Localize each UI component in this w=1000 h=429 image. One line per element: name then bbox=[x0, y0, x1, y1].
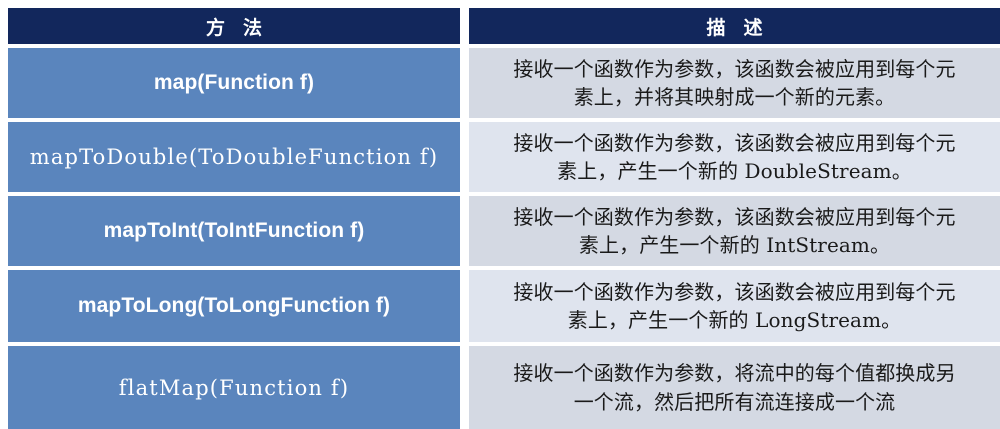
method-description-cell: 接收一个函数作为参数，该函数会被应用到每个元 素上，产生一个新的 LongStr… bbox=[469, 270, 1000, 342]
table-row: mapToDouble(ToDoubleFunction f) 接收一个函数作为… bbox=[8, 122, 1000, 192]
table-row: map(Function f) 接收一个函数作为参数，该函数会被应用到每个元 素… bbox=[8, 48, 1000, 118]
description-text: 接收一个函数作为参数，该函数会被应用到每个元 素上，产生一个新的 LongStr… bbox=[481, 278, 988, 335]
method-description-cell: 接收一个函数作为参数，该函数会被应用到每个元 素上，产生一个新的 DoubleS… bbox=[469, 122, 1000, 192]
method-name-cell: mapToDouble(ToDoubleFunction f) bbox=[8, 122, 460, 192]
method-description-cell: 接收一个函数作为参数，该函数会被应用到每个元 素上，并将其映射成一个新的元素。 bbox=[469, 48, 1000, 118]
column-header-description: 描 述 bbox=[469, 8, 1000, 44]
table-header-row: 方 法 描 述 bbox=[8, 8, 1000, 44]
method-name-cell: map(Function f) bbox=[8, 48, 460, 118]
method-description-cell: 接收一个函数作为参数，该函数会被应用到每个元 素上，产生一个新的 IntStre… bbox=[469, 196, 1000, 266]
table-row: mapToLong(ToLongFunction f) 接收一个函数作为参数，该… bbox=[8, 270, 1000, 342]
description-text: 接收一个函数作为参数，该函数会被应用到每个元 素上，产生一个新的 IntStre… bbox=[481, 203, 988, 260]
method-name-cell: flatMap(Function f) bbox=[8, 346, 460, 429]
description-text: 接收一个函数作为参数，该函数会被应用到每个元 素上，并将其映射成一个新的元素。 bbox=[481, 55, 988, 112]
method-name-cell: mapToLong(ToLongFunction f) bbox=[8, 270, 460, 342]
method-description-cell: 接收一个函数作为参数，将流中的每个值都换成另 一个流，然后把所有流连接成一个流 bbox=[469, 346, 1000, 429]
description-text: 接收一个函数作为参数，将流中的每个值都换成另 一个流，然后把所有流连接成一个流 bbox=[481, 359, 988, 416]
table-row: mapToInt(ToIntFunction f) 接收一个函数作为参数，该函数… bbox=[8, 196, 1000, 266]
column-header-method: 方 法 bbox=[8, 8, 460, 44]
description-text: 接收一个函数作为参数，该函数会被应用到每个元 素上，产生一个新的 DoubleS… bbox=[481, 129, 988, 186]
method-name-cell: mapToInt(ToIntFunction f) bbox=[8, 196, 460, 266]
stream-api-method-table: 方 法 描 述 map(Function f) 接收一个函数作为参数，该函数会被… bbox=[0, 0, 1000, 408]
table-row: flatMap(Function f) 接收一个函数作为参数，将流中的每个值都换… bbox=[8, 346, 1000, 429]
